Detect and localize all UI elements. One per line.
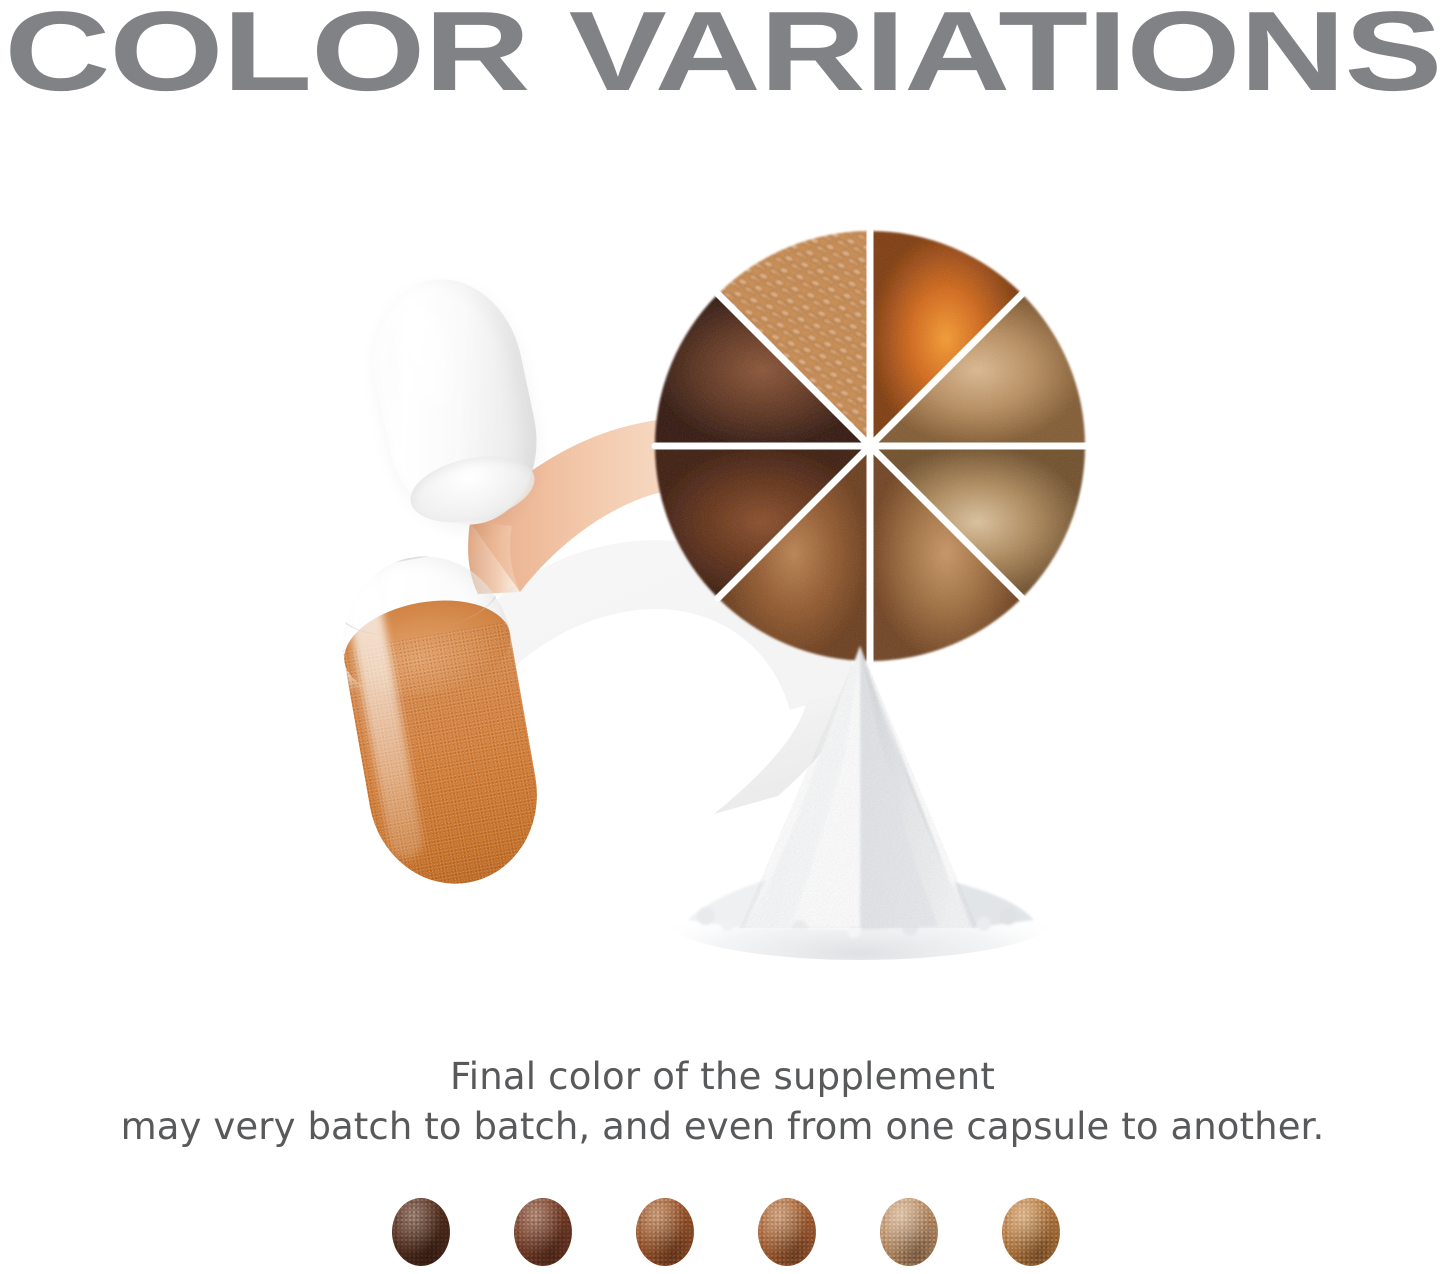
color-swatch-row xyxy=(392,1196,1060,1268)
swatch-3-copper-brown xyxy=(636,1198,694,1266)
swatch-grain xyxy=(758,1198,816,1266)
swatch-6-golden-tan xyxy=(1002,1198,1060,1266)
swatch-4-warm-sienna xyxy=(758,1198,816,1266)
swatch-5-light-tan xyxy=(880,1198,938,1266)
swatch-grain xyxy=(514,1198,572,1266)
white-powder-pile xyxy=(648,628,1068,960)
color-wheel-svg xyxy=(650,226,1090,666)
caption-line-2: may very batch to batch, and even from o… xyxy=(0,1102,1445,1152)
page-title: COLOR VARIATIONS xyxy=(0,0,1445,110)
swatch-grain xyxy=(880,1198,938,1266)
color-variations-infographic: COLOR VARIATIONS xyxy=(0,0,1445,1274)
caption-block: Final color of the supplement may very b… xyxy=(0,1052,1445,1152)
ingredient-color-wheel xyxy=(650,226,1090,666)
artwork-area xyxy=(0,150,1445,1020)
white-powder-pile-svg xyxy=(648,628,1068,960)
swatch-1-dark-espresso xyxy=(392,1198,450,1266)
swatch-grain xyxy=(636,1198,694,1266)
swatch-grain xyxy=(392,1198,450,1266)
swatch-grain xyxy=(1002,1198,1060,1266)
caption-line-1: Final color of the supplement xyxy=(0,1052,1445,1102)
swatch-2-red-brown xyxy=(514,1198,572,1266)
